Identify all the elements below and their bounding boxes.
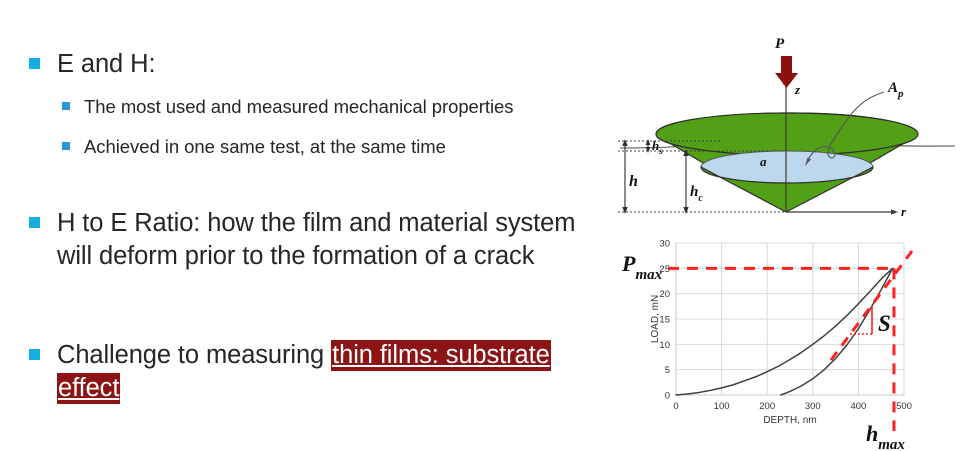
- indenter-top-rim: [656, 113, 918, 155]
- projected-area-label: Ap: [887, 80, 904, 100]
- bullet-square-icon: [29, 349, 40, 360]
- applied-load-label: P: [775, 36, 785, 52]
- slide-text-column: E and H: The most used and measured mech…: [0, 0, 615, 451]
- bullet-square-icon: [62, 102, 70, 110]
- bullet-challenge-label: Challenge to measuring thin films: subst…: [57, 339, 614, 405]
- bullet-h-to-e-ratio-label: H to E Ratio: how the film and material …: [57, 207, 614, 273]
- x-tick-label: 300: [805, 401, 821, 412]
- y-axis-tick-labels: 051015202530: [659, 239, 670, 402]
- contact-radius-label: a: [760, 154, 767, 169]
- x-tick-label: 0: [673, 401, 678, 412]
- bullet-square-icon: [29, 58, 40, 69]
- total-depth-label: h: [629, 173, 638, 190]
- sink-in-depth-dimension: hs: [646, 138, 664, 156]
- h-max-label: hmax: [866, 421, 905, 451]
- x-tick-label: 500: [896, 401, 912, 412]
- x-tick-label: 100: [714, 401, 730, 412]
- z-axis-label: z: [794, 82, 801, 97]
- indentation-geometry-diagram: z r P Ap a h hs hc: [600, 20, 975, 235]
- bullet-most-used-label: The most used and measured mechanical pr…: [84, 94, 514, 120]
- x-tick-label: 400: [850, 401, 866, 412]
- contact-depth-label: hc: [690, 184, 703, 204]
- bullet-same-test-label: Achieved in one same test, at the same t…: [84, 134, 446, 160]
- y-tick-label: 20: [659, 289, 670, 300]
- y-tick-label: 30: [659, 239, 670, 250]
- y-axis-title: LOAD, mN: [650, 295, 661, 343]
- bullet-most-used: The most used and measured mechanical pr…: [62, 94, 612, 120]
- stiffness-label: S: [878, 311, 891, 336]
- y-tick-label: 15: [659, 315, 670, 326]
- y-tick-label: 10: [659, 340, 670, 351]
- bullet-challenge: Challenge to measuring thin films: subst…: [29, 339, 614, 405]
- y-tick-label: 5: [665, 365, 670, 376]
- bullet-square-icon: [29, 217, 40, 228]
- bullet-square-icon: [62, 142, 70, 150]
- total-depth-dimension: h: [622, 139, 638, 214]
- x-axis-tick-labels: 0100200300400500: [673, 401, 912, 412]
- bullet-same-test: Achieved in one same test, at the same t…: [62, 134, 612, 160]
- y-tick-label: 0: [665, 391, 670, 402]
- p-max-label: Pmax: [621, 251, 663, 283]
- r-axis-arrowhead: [891, 209, 898, 215]
- bullet-e-and-h-label: E and H:: [57, 48, 155, 81]
- load-depth-chart: 051015202530 0100200300400500 S DEPTH, n…: [620, 233, 975, 451]
- x-tick-label: 200: [759, 401, 775, 412]
- r-axis-label: r: [901, 204, 907, 219]
- bullet-h-to-e-ratio: H to E Ratio: how the film and material …: [29, 207, 614, 273]
- bullet-e-and-h: E and H:: [29, 48, 609, 81]
- bullet-challenge-plain-text: Challenge to measuring: [57, 341, 331, 369]
- x-axis-title: DEPTH, nm: [763, 415, 816, 426]
